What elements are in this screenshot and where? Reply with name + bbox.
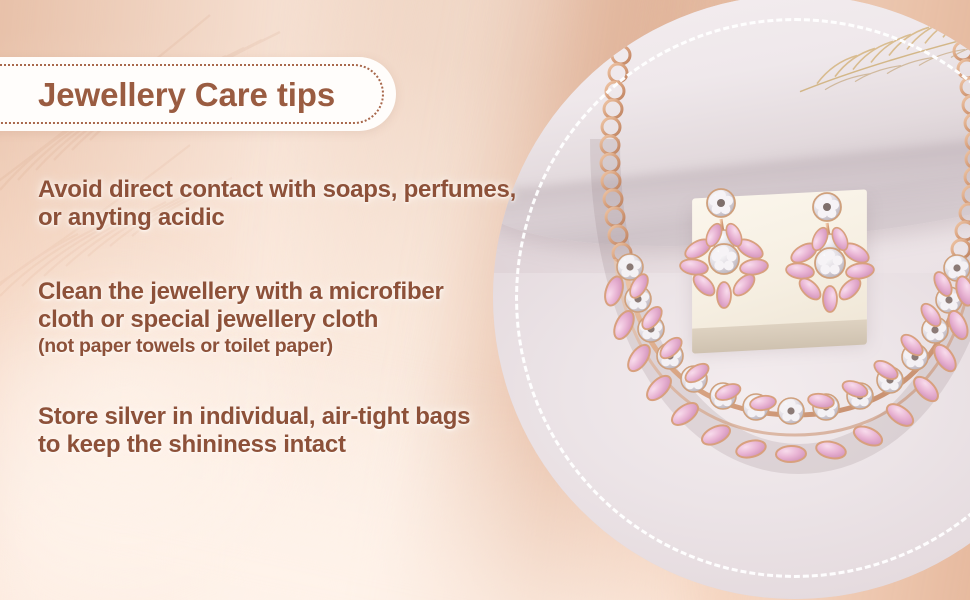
tip-line: or anyting acidic <box>38 204 558 232</box>
tip-line: Clean the jewellery with a microfiber <box>38 278 558 306</box>
jewellery-set-illustration <box>493 0 970 599</box>
tip-line-note: (not paper towels or toilet paper) <box>38 334 558 359</box>
tip-line: cloth or special jewellery cloth <box>38 306 558 334</box>
earring-left <box>679 189 769 308</box>
page-title: Jewellery Care tips <box>38 70 378 120</box>
tip-item-3: Store silver in individual, air-tight ba… <box>38 403 558 459</box>
tips-list: Avoid direct contact with soaps, perfume… <box>38 176 558 489</box>
tip-line: Avoid direct contact with soaps, perfume… <box>38 176 558 204</box>
care-tips-banner: Jewellery Care tips Avoid direct contact… <box>0 0 970 600</box>
jewellery-photo <box>493 0 970 599</box>
tip-line: to keep the shininess intact <box>38 431 558 459</box>
earring-right <box>785 193 875 312</box>
tip-item-2: Clean the jewellery with a microfiber cl… <box>38 278 558 359</box>
tip-item-1: Avoid direct contact with soaps, perfume… <box>38 176 558 232</box>
tip-line: Store silver in individual, air-tight ba… <box>38 403 558 431</box>
